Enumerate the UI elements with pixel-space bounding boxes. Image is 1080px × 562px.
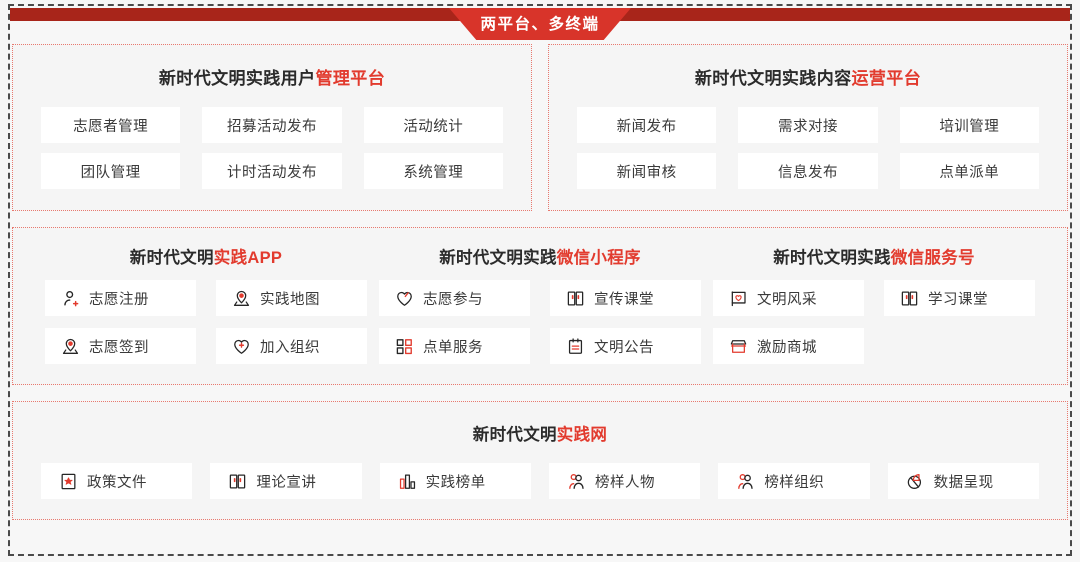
icon-row: 文明风采 学习课堂: [713, 280, 1035, 316]
tile-row: 新闻审核 信息发布 点单派单: [577, 153, 1039, 189]
item-label: 加入组织: [260, 336, 320, 357]
panel-website: 新时代文明实践网 政策文件: [12, 401, 1068, 520]
tile-grid-content-operation: 新闻发布 需求对接 培训管理 新闻审核 信息发布 点单派单: [549, 89, 1067, 189]
tile-row: 志愿者管理 招募活动发布 活动统计: [41, 107, 503, 143]
item-practice-ranking[interactable]: 实践榜单: [380, 463, 531, 499]
icon-row: 激励商城: [713, 328, 1035, 364]
pin-check-icon: [61, 337, 80, 356]
item-label: 志愿参与: [423, 288, 483, 309]
panel-user-management-platform: 新时代文明实践用户管理平台 志愿者管理 招募活动发布 活动统计 团队管理 计时活…: [12, 44, 532, 211]
policy-doc-icon: [59, 472, 78, 491]
tile-order-dispatch[interactable]: 点单派单: [900, 153, 1039, 189]
item-label: 志愿签到: [89, 336, 149, 357]
website-item-row: 政策文件 理论宣讲: [13, 445, 1067, 519]
panel-title-user-management: 新时代文明实践用户管理平台: [13, 45, 531, 89]
tile-row: 团队管理 计时活动发布 系统管理: [41, 153, 503, 189]
item-label: 理论宣讲: [256, 471, 316, 492]
column-title-service-account: 新时代文明实践微信服务号: [707, 244, 1041, 268]
panel-title-accent: 管理平台: [316, 69, 386, 88]
item-label: 点单服务: [423, 336, 483, 357]
heart-icon: [395, 289, 414, 308]
tile-demand-matching[interactable]: 需求对接: [738, 107, 877, 143]
item-label: 榜样人物: [595, 471, 655, 492]
tile-row: 新闻发布 需求对接 培训管理: [577, 107, 1039, 143]
item-volunteer-register[interactable]: 志愿注册: [45, 280, 196, 316]
column-title-miniprogram: 新时代文明实践微信小程序: [373, 244, 707, 268]
item-label: 政策文件: [87, 471, 147, 492]
clipboard-icon: [566, 337, 585, 356]
tile-volunteer-management[interactable]: 志愿者管理: [41, 107, 180, 143]
column-title-plain: 新时代文明: [130, 249, 214, 267]
item-volunteer-checkin[interactable]: 志愿签到: [45, 328, 196, 364]
tile-info-publish[interactable]: 信息发布: [738, 153, 877, 189]
tile-news-review[interactable]: 新闻审核: [577, 153, 716, 189]
item-join-organization[interactable]: 加入组织: [216, 328, 367, 364]
item-civilization-style[interactable]: 文明风采: [713, 280, 864, 316]
item-study-classroom[interactable]: 学习课堂: [884, 280, 1035, 316]
item-role-model-person[interactable]: 榜样人物: [549, 463, 700, 499]
tile-recruit-activity-publish[interactable]: 招募活动发布: [202, 107, 341, 143]
bar-chart-icon: [398, 472, 417, 491]
panel-title-accent: 运营平台: [852, 69, 922, 88]
terminal-icon-grid: 志愿注册 实践地图: [13, 268, 1067, 384]
tile-grid-user-management: 志愿者管理 招募活动发布 活动统计 团队管理 计时活动发布 系统管理: [13, 89, 531, 189]
diagram-root: 两平台、多终端 新时代文明实践用户管理平台 志愿者管理 招募活动发布 活动统计 …: [0, 0, 1080, 562]
item-practice-map[interactable]: 实践地图: [216, 280, 367, 316]
item-label: 榜样组织: [764, 471, 824, 492]
column-title-plain: 新时代文明实践: [439, 249, 557, 267]
shop-icon: [729, 337, 748, 356]
column-title-app: 新时代文明实践APP: [39, 244, 373, 268]
tile-training-management[interactable]: 培训管理: [900, 107, 1039, 143]
panel-title-accent: 实践网: [557, 426, 607, 444]
column-title-accent: 实践APP: [214, 249, 282, 267]
platform-panels-row: 新时代文明实践用户管理平台 志愿者管理 招募活动发布 活动统计 团队管理 计时活…: [12, 44, 1068, 211]
panel-title-plain: 新时代文明实践内容: [695, 69, 852, 88]
terminal-column-headers: 新时代文明实践APP 新时代文明实践微信小程序 新时代文明实践微信服务号: [13, 228, 1067, 268]
open-book-icon: [900, 289, 919, 308]
tile-system-management[interactable]: 系统管理: [364, 153, 503, 189]
item-incentive-mall[interactable]: 激励商城: [713, 328, 864, 364]
item-order-service[interactable]: 点单服务: [379, 328, 530, 364]
item-label: 文明公告: [594, 336, 654, 357]
panel-title-content-operation: 新时代文明实践内容运营平台: [549, 45, 1067, 89]
item-publicity-classroom[interactable]: 宣传课堂: [550, 280, 701, 316]
item-label: 实践榜单: [426, 471, 486, 492]
item-label: 数据呈现: [934, 471, 994, 492]
icon-row: 志愿参与 宣传课堂: [379, 280, 701, 316]
person-pair-icon: [736, 472, 755, 491]
item-civilization-announcement[interactable]: 文明公告: [550, 328, 701, 364]
pie-chart-icon: [906, 472, 925, 491]
tile-team-management[interactable]: 团队管理: [41, 153, 180, 189]
open-book-icon: [566, 289, 585, 308]
item-data-presentation[interactable]: 数据呈现: [888, 463, 1039, 499]
frame-heart-icon: [729, 289, 748, 308]
icon-column-service-account: 文明风采 学习课堂: [707, 280, 1041, 364]
panel-title-plain: 新时代文明实践用户: [159, 69, 316, 88]
user-add-icon: [61, 289, 80, 308]
panel-title-website: 新时代文明实践网: [13, 402, 1067, 445]
tile-timed-activity-publish[interactable]: 计时活动发布: [202, 153, 341, 189]
column-title-accent: 微信服务号: [891, 249, 975, 267]
tile-activity-statistics[interactable]: 活动统计: [364, 107, 503, 143]
column-title-accent: 微信小程序: [557, 249, 641, 267]
map-pin-icon: [232, 289, 251, 308]
item-placeholder: [884, 328, 1035, 364]
item-label: 学习课堂: [928, 288, 988, 309]
panel-terminals: 新时代文明实践APP 新时代文明实践微信小程序 新时代文明实践微信服务号: [12, 227, 1068, 385]
item-label: 实践地图: [260, 288, 320, 309]
item-theory-lecture[interactable]: 理论宣讲: [210, 463, 361, 499]
content-area: 新时代文明实践用户管理平台 志愿者管理 招募活动发布 活动统计 团队管理 计时活…: [12, 44, 1068, 550]
icon-row: 志愿签到 加入组织: [45, 328, 367, 364]
item-label: 宣传课堂: [594, 288, 654, 309]
person-pair-icon: [567, 472, 586, 491]
item-volunteer-participate[interactable]: 志愿参与: [379, 280, 530, 316]
icon-column-miniprogram: 志愿参与 宣传课堂: [373, 280, 707, 364]
grid-order-icon: [395, 337, 414, 356]
column-title-plain: 新时代文明实践: [773, 249, 891, 267]
open-book-icon: [228, 472, 247, 491]
item-policy-documents[interactable]: 政策文件: [41, 463, 192, 499]
tile-news-publish[interactable]: 新闻发布: [577, 107, 716, 143]
item-label: 激励商城: [757, 336, 817, 357]
item-label: 志愿注册: [89, 288, 149, 309]
panel-title-plain: 新时代文明: [473, 426, 557, 444]
item-role-model-organization[interactable]: 榜样组织: [718, 463, 869, 499]
icon-row: 志愿注册 实践地图: [45, 280, 367, 316]
icon-row: 点单服务 文明公告: [379, 328, 701, 364]
item-label: 文明风采: [757, 288, 817, 309]
icon-column-app: 志愿注册 实践地图: [39, 280, 373, 364]
panel-content-operation-platform: 新时代文明实践内容运营平台 新闻发布 需求对接 培训管理 新闻审核 信息发布 点…: [548, 44, 1068, 211]
banner-title: 两平台、多终端: [449, 8, 631, 38]
heart-plus-icon: [232, 337, 251, 356]
